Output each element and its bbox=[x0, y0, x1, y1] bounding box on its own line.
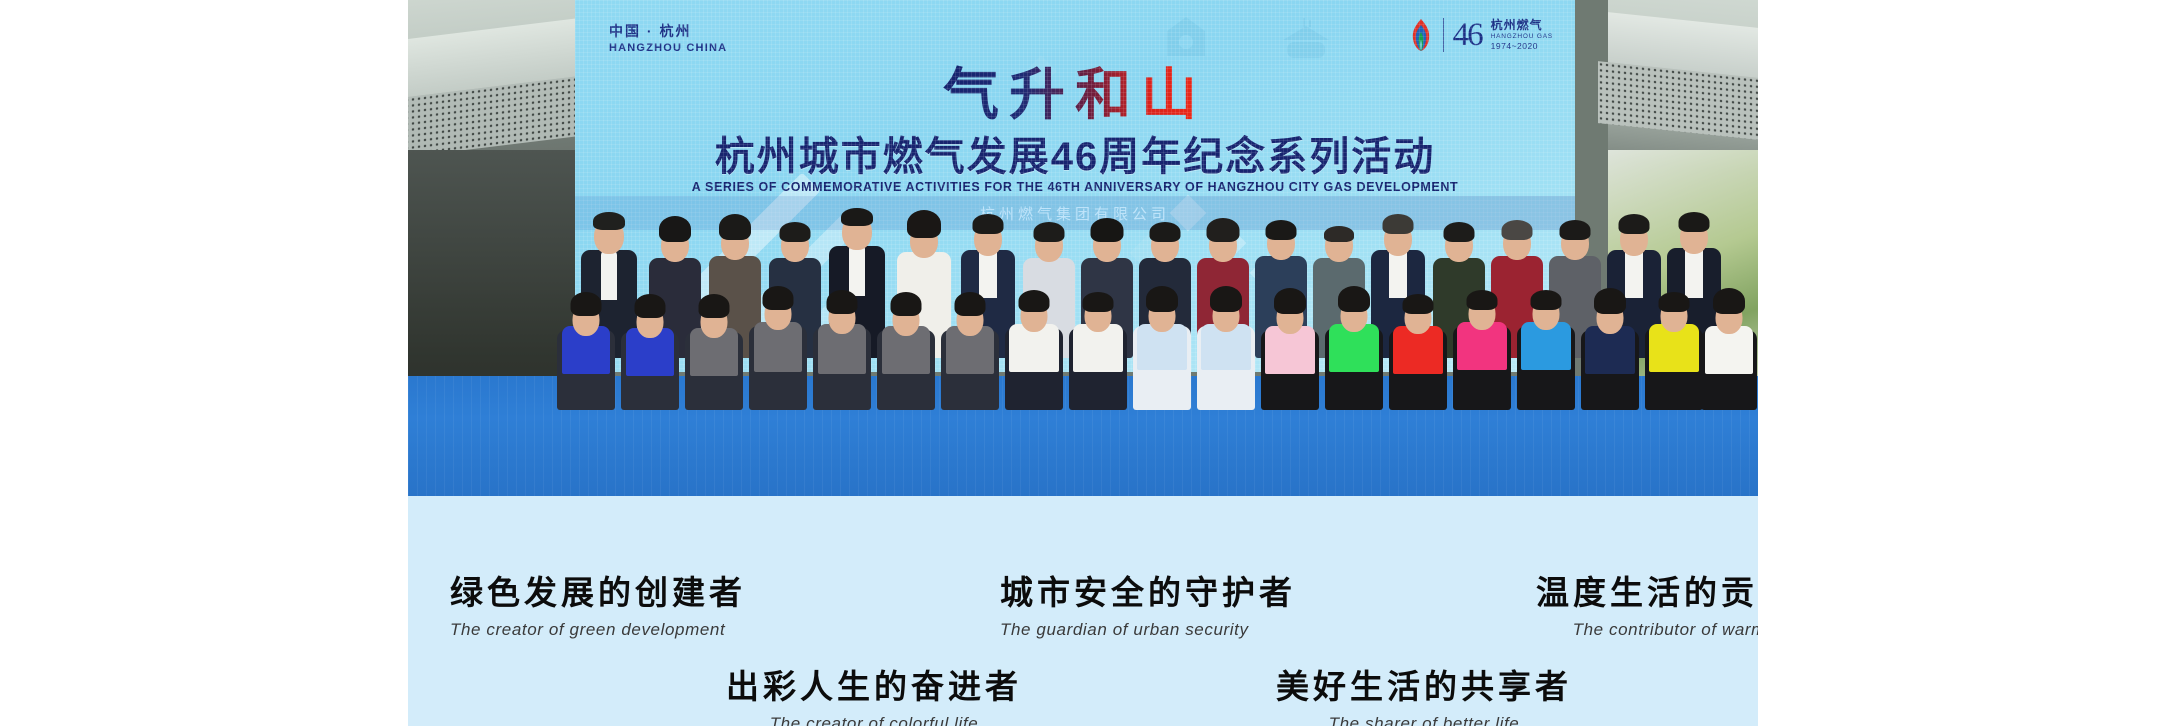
company-name-cn: 杭州燃气 bbox=[1491, 18, 1553, 33]
slogan-1: 绿色发展的创建者 The creator of green developmen… bbox=[450, 574, 746, 640]
person bbox=[556, 290, 616, 410]
person bbox=[1004, 286, 1064, 410]
anniversary-years: 1974~2020 bbox=[1491, 41, 1553, 52]
slogan-1-en: The creator of green development bbox=[450, 620, 746, 640]
person bbox=[1196, 288, 1256, 410]
person bbox=[1580, 290, 1640, 410]
slogan-5-en: The sharer of better life bbox=[1276, 714, 1572, 726]
slogan-5-cn: 美好生活的共享者 bbox=[1276, 668, 1572, 706]
slogan-panel: 绿色发展的创建者 The creator of green developmen… bbox=[408, 496, 1758, 726]
person bbox=[1388, 290, 1448, 410]
slogan-4: 出彩人生的奋进者 The creator of colorful life bbox=[726, 668, 1022, 726]
slogan-4-en: The creator of colorful life bbox=[726, 714, 1022, 726]
slogan-3-en: The contributor of warm life bbox=[1536, 620, 1758, 640]
pagoda-icon bbox=[1275, 18, 1337, 74]
person bbox=[1516, 284, 1576, 410]
location-label: 中国 · 杭州 HANGZHOU CHINA bbox=[609, 22, 727, 56]
logo-divider bbox=[1443, 18, 1444, 52]
person bbox=[1644, 286, 1704, 410]
person bbox=[812, 288, 872, 410]
person bbox=[940, 290, 1000, 410]
front-row bbox=[408, 278, 1758, 410]
person bbox=[684, 292, 744, 410]
flame-icon bbox=[1408, 18, 1434, 52]
person bbox=[876, 290, 936, 410]
company-name-en: HANGZHOU GAS bbox=[1491, 33, 1553, 41]
content-column: 中国 · 杭州 HANGZHOU CHINA 气升和山 杭州城市燃气发展46周年… bbox=[408, 0, 1758, 726]
poster-page: 中国 · 杭州 HANGZHOU CHINA 气升和山 杭州城市燃气发展46周年… bbox=[0, 0, 2179, 726]
person bbox=[1700, 290, 1758, 410]
hangzhou-gas-logo: 46 杭州燃气 HANGZHOU GAS 1974~2020 bbox=[1408, 18, 1553, 52]
person bbox=[1324, 288, 1384, 410]
logo-wordmark: 杭州燃气 HANGZHOU GAS 1974~2020 bbox=[1491, 18, 1553, 52]
slogan-3-cn: 温度生活的贡献者 bbox=[1536, 574, 1758, 612]
person bbox=[1132, 288, 1192, 410]
anniversary-number: 46 bbox=[1453, 19, 1482, 52]
person bbox=[1452, 284, 1512, 410]
slogan-2-en: The guardian of urban security bbox=[1000, 620, 1296, 640]
slogan-1-cn: 绿色发展的创建者 bbox=[450, 574, 746, 612]
location-en: HANGZHOU CHINA bbox=[609, 41, 727, 56]
crowd-group bbox=[408, 110, 1758, 410]
slogan-3: 温度生活的贡献者 The contributor of warm life bbox=[1536, 574, 1758, 640]
person bbox=[1068, 286, 1128, 410]
slogan-5: 美好生活的共享者 The sharer of better life bbox=[1276, 668, 1572, 726]
slogan-4-cn: 出彩人生的奋进者 bbox=[726, 668, 1022, 706]
group-photo: 中国 · 杭州 HANGZHOU CHINA 气升和山 杭州城市燃气发展46周年… bbox=[408, 0, 1758, 496]
location-cn: 中国 · 杭州 bbox=[609, 22, 727, 41]
person bbox=[748, 284, 808, 410]
person bbox=[620, 292, 680, 410]
slogan-2: 城市安全的守护者 The guardian of urban security bbox=[1000, 574, 1296, 640]
slogan-2-cn: 城市安全的守护者 bbox=[1000, 574, 1296, 612]
person bbox=[1260, 290, 1320, 410]
